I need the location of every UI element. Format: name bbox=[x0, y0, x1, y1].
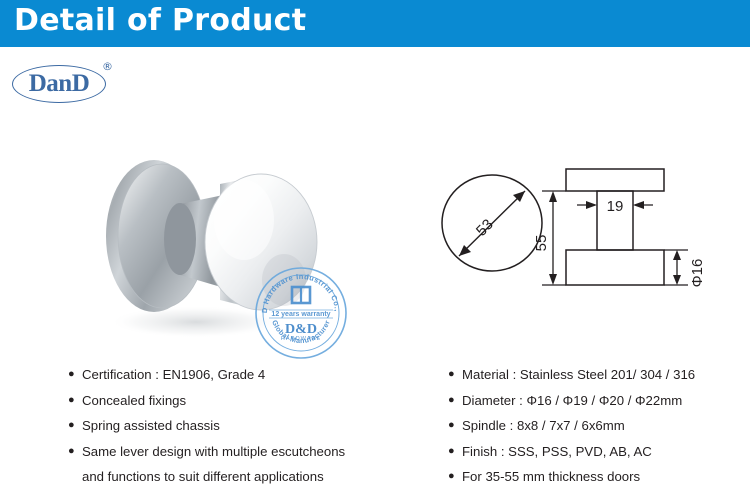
seal-warranty-text: 12 years warranty bbox=[271, 311, 330, 318]
svg-text:D&D Hardware Industrial Co.,Lt: D&D Hardware Industrial Co.,Ltd bbox=[253, 265, 342, 313]
bullet-icon: ● bbox=[68, 362, 75, 388]
brand-logo: DanD ® bbox=[12, 60, 132, 106]
seal-center-brand: D&D bbox=[285, 322, 317, 337]
spec-item: ● Diameter : Φ16 / Φ19 / Φ20 / Φ22mm bbox=[448, 388, 748, 414]
bullet-icon: ● bbox=[448, 362, 455, 388]
registered-trademark-icon: ® bbox=[102, 60, 113, 73]
watermark-seal: D&D Hardware Industrial Co.,Ltd Global M… bbox=[253, 265, 349, 361]
spec-item: ● Certification : EN1906, Grade 4 bbox=[68, 362, 428, 388]
spec-item-label: Same lever design with multiple escutche… bbox=[82, 444, 345, 459]
spec-item: ● Concealed fixings bbox=[68, 388, 428, 414]
logo-wordmark: DanD bbox=[12, 65, 106, 103]
label-neck-width-19: 19 bbox=[607, 198, 624, 215]
spec-item: ● For 35-55 mm thickness doors bbox=[448, 464, 748, 490]
header-banner: Detail of Product bbox=[0, 0, 750, 47]
spec-item: ● Same lever design with multiple escutc… bbox=[68, 439, 428, 465]
bullet-icon: ● bbox=[448, 439, 455, 465]
page-title: Detail of Product bbox=[14, 3, 306, 38]
spec-item-label: Certification : EN1906, Grade 4 bbox=[82, 367, 265, 382]
bullet-icon: ● bbox=[68, 388, 75, 414]
technical-drawing: 53 55 19 Φ16 bbox=[430, 155, 740, 315]
spec-list-right: ● Material : Stainless Steel 201/ 304 / … bbox=[448, 362, 748, 490]
spec-item-label: For 35-55 mm thickness doors bbox=[462, 469, 640, 484]
spec-item: ● Finish : SSS, PSS, PVD, AB, AC bbox=[448, 439, 748, 465]
dd-hardware-seal-icon: D&D Hardware Industrial Co.,Ltd Global M… bbox=[253, 265, 349, 361]
bullet-icon: ● bbox=[448, 413, 455, 439]
spec-item-label: Spring assisted chassis bbox=[82, 418, 220, 433]
side-view-top-plate bbox=[566, 169, 664, 191]
spec-item-label: Finish : SSS, PSS, PVD, AB, AC bbox=[462, 444, 652, 459]
label-thickness-phi16: Φ16 bbox=[689, 259, 706, 288]
bullet-icon: ● bbox=[448, 464, 455, 490]
label-diameter-53: 53 bbox=[473, 216, 497, 240]
spec-item-label: Concealed fixings bbox=[82, 393, 186, 408]
bullet-icon: ● bbox=[448, 388, 455, 414]
spec-item-label: Spindle : 8x8 / 7x7 / 6x6mm bbox=[462, 418, 625, 433]
side-view-rose-block bbox=[566, 250, 664, 285]
bullet-icon: ● bbox=[68, 439, 75, 465]
spec-item-continuation: and functions to suit different applicat… bbox=[68, 464, 428, 490]
spec-item: ● Material : Stainless Steel 201/ 304 / … bbox=[448, 362, 748, 388]
spec-item: ● Spindle : 8x8 / 7x7 / 6x6mm bbox=[448, 413, 748, 439]
bullet-icon: ● bbox=[68, 413, 75, 439]
spec-item-label: Material : Stainless Steel 201/ 304 / 31… bbox=[462, 367, 695, 382]
spec-item-label: Diameter : Φ16 / Φ19 / Φ20 / Φ22mm bbox=[462, 393, 682, 408]
spec-item: ● Spring assisted chassis bbox=[68, 413, 428, 439]
seal-center-subtitle: HARDWARE bbox=[281, 336, 321, 342]
spec-list-left: ● Certification : EN1906, Grade 4 ● Conc… bbox=[68, 362, 428, 490]
label-height-55: 55 bbox=[533, 235, 550, 252]
spec-item-label: and functions to suit different applicat… bbox=[82, 469, 324, 484]
seal-top-arc-text: D&D Hardware Industrial Co.,Ltd bbox=[253, 265, 342, 313]
